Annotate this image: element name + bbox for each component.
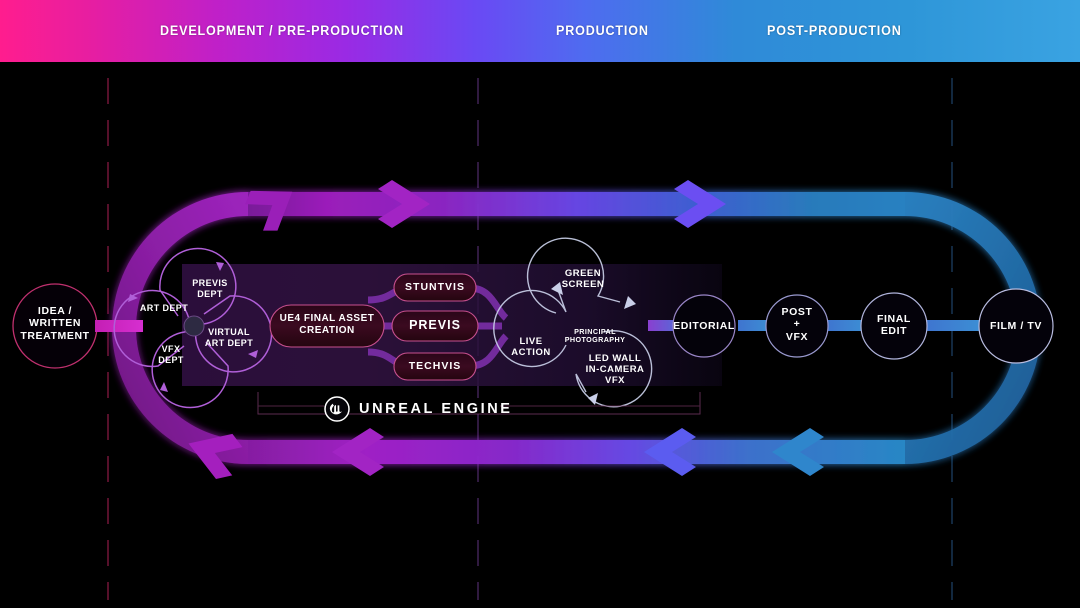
- pill-ue4-final-asset-creation[interactable]: [270, 305, 384, 347]
- pill-previs[interactable]: [392, 311, 478, 341]
- connector-idea-to-departments: [95, 320, 143, 332]
- node-idea-written-treatment[interactable]: [13, 284, 97, 368]
- pill-stuntvis[interactable]: [394, 274, 476, 301]
- diagram-canvas: DEVELOPMENT / PRE-PRODUCTION PRODUCTION …: [0, 0, 1080, 608]
- connector-final-to-film: [924, 320, 980, 331]
- node-editorial[interactable]: [673, 295, 735, 357]
- pinwheel-hub: [184, 316, 204, 336]
- node-final-edit[interactable]: [861, 293, 927, 359]
- node-post-vfx[interactable]: [766, 295, 828, 357]
- unreal-engine-wordmark: UNREAL ENGINE: [359, 401, 513, 417]
- unreal-u-glyph-icon: [324, 396, 350, 422]
- pill-techvis[interactable]: [394, 353, 476, 380]
- connector-post-to-final: [826, 320, 864, 331]
- workflow-graphic: [0, 0, 1080, 608]
- connector-editorial-to-post: [738, 320, 770, 331]
- node-film-tv[interactable]: [979, 289, 1053, 363]
- unreal-engine-logo: UNREAL ENGINE: [324, 396, 513, 422]
